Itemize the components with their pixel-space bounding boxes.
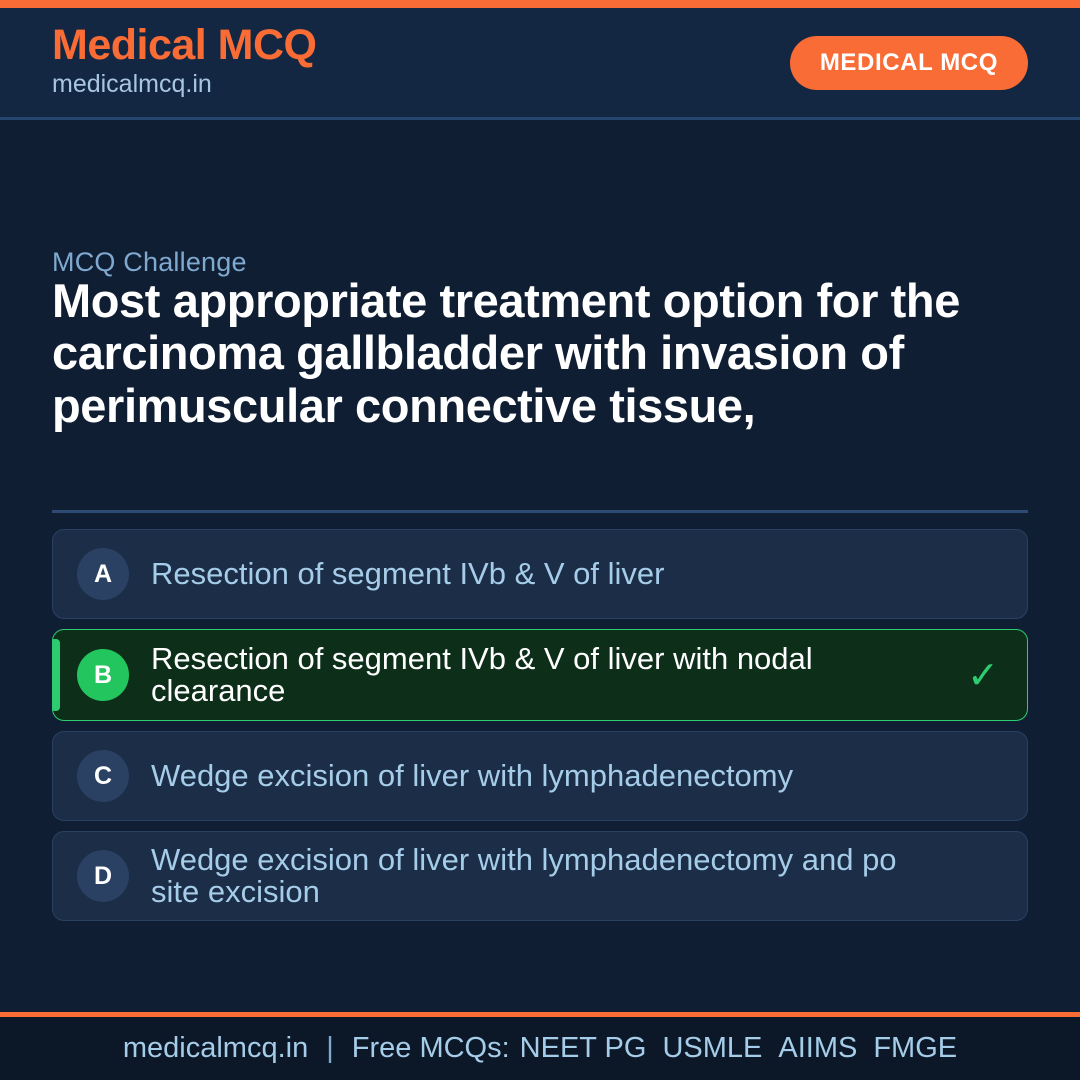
question-text: Most appropriate treatment option for th… (52, 275, 1012, 432)
footer-site: medicalmcq.in (123, 1032, 308, 1065)
footer-tag-usmle: USMLE (662, 1032, 762, 1065)
footer-content: medicalmcq.in | Free MCQs: NEET PG USMLE… (123, 1032, 957, 1065)
footer-tags: NEET PG USMLE AIIMS FMGE (520, 1032, 957, 1065)
header-badge: MEDICAL MCQ (790, 36, 1028, 90)
options-list: A Resection of segment IVb & V of liver … (52, 529, 1028, 931)
footer-tag-neetpg: NEET PG (520, 1032, 647, 1065)
brand-title: Medical MCQ (52, 23, 317, 68)
option-a-text: Resection of segment IVb & V of liver (151, 558, 961, 590)
option-b-accent (53, 639, 60, 711)
option-d[interactable]: D Wedge excision of liver with lymphaden… (52, 831, 1028, 921)
option-c-badge: C (77, 750, 129, 802)
option-b-text: Resection of segment IVb & V of liver wi… (151, 643, 961, 707)
footer-tag-aiims: AIIMS (778, 1032, 857, 1065)
option-a-badge: A (77, 548, 129, 600)
option-d-badge: D (77, 850, 129, 902)
option-a[interactable]: A Resection of segment IVb & V of liver … (52, 529, 1028, 619)
brand-subtitle: medicalmcq.in (52, 69, 317, 100)
option-b-check-icon: ✓ (961, 653, 1005, 698)
option-d-text: Wedge excision of liver with lymphadenec… (151, 844, 961, 908)
footer-separator: | (326, 1032, 334, 1065)
top-accent-bar (0, 0, 1080, 8)
option-b[interactable]: B Resection of segment IVb & V of liver … (52, 629, 1028, 721)
header-bar: Medical MCQ medicalmcq.in MEDICAL MCQ (0, 8, 1080, 120)
brand-block: Medical MCQ medicalmcq.in (52, 23, 317, 101)
footer-bar: medicalmcq.in | Free MCQs: NEET PG USMLE… (0, 1012, 1080, 1080)
option-c[interactable]: C Wedge excision of liver with lymphaden… (52, 731, 1028, 821)
option-c-text: Wedge excision of liver with lymphadenec… (151, 760, 961, 792)
footer-label: Free MCQs: (352, 1032, 510, 1065)
question-divider (52, 510, 1028, 513)
footer-tag-fmge: FMGE (873, 1032, 957, 1065)
mcq-card: Medical MCQ medicalmcq.in MEDICAL MCQ MC… (0, 0, 1080, 1080)
question-area: MCQ Challenge Most appropriate treatment… (0, 120, 1080, 1012)
option-b-badge: B (77, 649, 129, 701)
